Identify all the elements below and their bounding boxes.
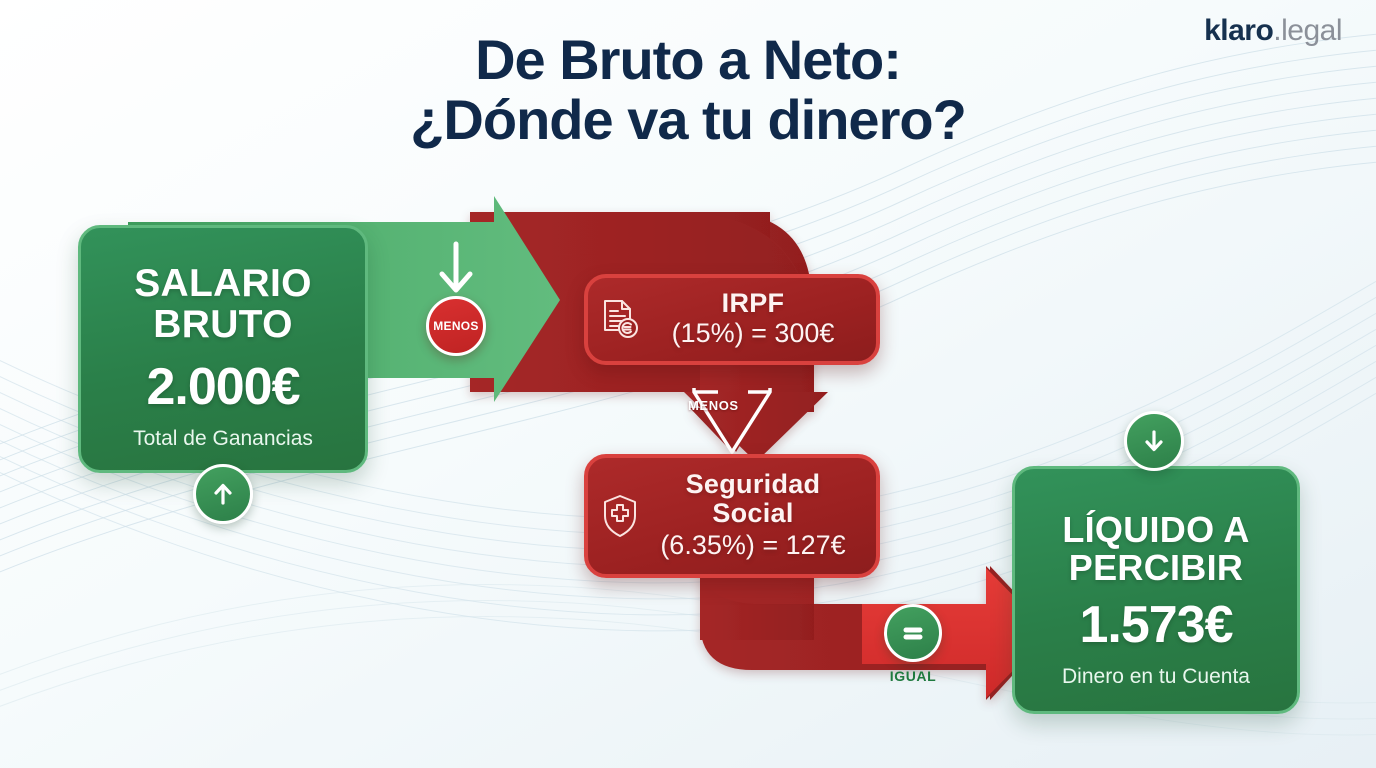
card-ss-heading-line2: Social [644, 499, 862, 527]
card-seguridad-social: Seguridad Social (6.35%) = 127€ [584, 454, 880, 578]
logo-brand-text: klaro [1204, 14, 1273, 47]
card-ss-heading: Seguridad Social [644, 470, 862, 527]
card-liquido-amount: 1.573€ [1015, 595, 1297, 655]
card-ss-heading-line1: Seguridad [644, 470, 862, 498]
card-bruto-amount: 2.000€ [81, 357, 365, 417]
shield-cross-icon [596, 493, 644, 539]
card-liquido-a-percibir: LÍQUIDO A PERCIBIR 1.573€ Dinero en tu C… [1012, 466, 1300, 714]
card-liquido-heading: LÍQUIDO A PERCIBIR [1015, 511, 1297, 587]
card-bruto-heading-line1: SALARIO [81, 264, 365, 305]
menos-label-2: MENOS [688, 398, 739, 413]
equals-icon [898, 618, 928, 648]
card-irpf-amount: (15%) = 300€ [644, 318, 862, 349]
card-liquido-heading-line2: PERCIBIR [1015, 549, 1297, 587]
arrow-up-badge [193, 464, 253, 524]
title-line-1: De Bruto a Neto: [475, 28, 901, 91]
card-salario-bruto: SALARIO BRUTO 2.000€ Total de Ganancias [78, 225, 368, 473]
igual-label: IGUAL [884, 668, 942, 684]
page-title: De Bruto a Neto: ¿Dónde va tu dinero? [0, 30, 1376, 150]
arrow-down-icon [1139, 426, 1169, 456]
card-liquido-caption: Dinero en tu Cuenta [1015, 665, 1297, 689]
card-bruto-heading: SALARIO BRUTO [81, 264, 365, 345]
card-liquido-heading-line1: LÍQUIDO A [1015, 511, 1297, 549]
menos-badge-1-label: MENOS [433, 319, 479, 333]
menos-badge-1: MENOS [426, 296, 486, 356]
arrow-down-badge [1124, 411, 1184, 471]
card-bruto-heading-line2: BRUTO [81, 305, 365, 346]
brand-logo: klaro.legal [1204, 14, 1342, 48]
title-line-2: ¿Dónde va tu dinero? [0, 90, 1376, 150]
card-bruto-caption: Total de Ganancias [81, 427, 365, 451]
card-ss-amount: (6.35%) = 127€ [644, 529, 862, 561]
arrow-up-icon [208, 479, 238, 509]
invoice-euro-icon [596, 298, 644, 342]
card-irpf: IRPF (15%) = 300€ [584, 274, 880, 365]
logo-suffix-text: .legal [1273, 14, 1342, 47]
igual-badge [884, 604, 942, 662]
card-irpf-heading: IRPF [644, 290, 862, 317]
